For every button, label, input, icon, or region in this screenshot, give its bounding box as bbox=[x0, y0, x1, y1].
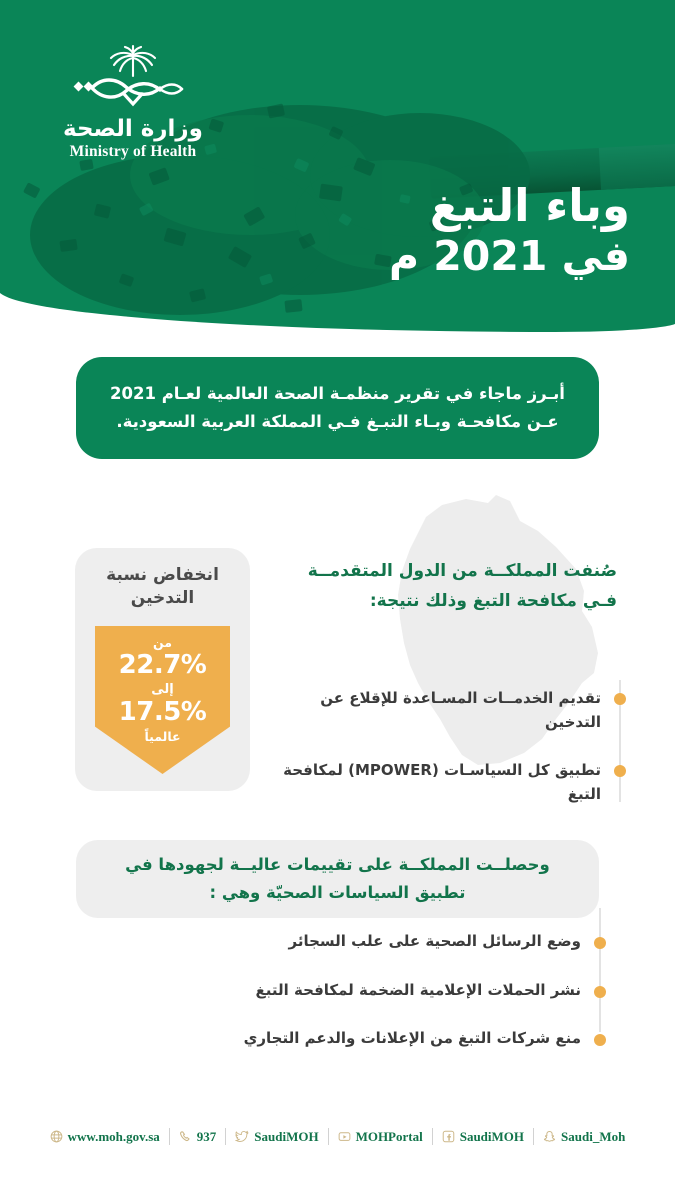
intro-banner: أبـرز ماجاء في تقرير منظمـة الصحة العالم… bbox=[76, 357, 599, 459]
ratings-banner: وحصلــت المملكــة على تقييمات عاليــة لج… bbox=[76, 840, 599, 918]
footer-label: MOHPortal bbox=[356, 1129, 423, 1145]
moh-logo: وزارة الصحة Ministry of Health bbox=[48, 42, 218, 167]
list-item: نشر الحملات الإعلامية الضخمة لمكافحة الت… bbox=[95, 979, 615, 1002]
moh-emblem-icon bbox=[58, 42, 208, 114]
kingdom-ranking-heading: صُنفت المملكــة من الدول المتقدمــة فـي … bbox=[277, 556, 617, 617]
phone-icon bbox=[179, 1130, 192, 1143]
list-item: وضع الرسائل الصحية على علب السجائر bbox=[95, 930, 615, 953]
stat-pennant-badge: من 22.7% إلى 17.5% عالمياً bbox=[95, 626, 230, 774]
bullet-dot-icon bbox=[614, 765, 626, 777]
footer-label: Saudi_Moh bbox=[561, 1129, 625, 1145]
footer-item-twitter[interactable]: SaudiMOH bbox=[226, 1129, 327, 1145]
footer-label: SaudiMOH bbox=[254, 1129, 318, 1145]
badge-to-value: 17.5% bbox=[119, 698, 207, 728]
logo-english-text: Ministry of Health bbox=[48, 143, 218, 161]
badge-from-label: من bbox=[153, 635, 172, 651]
youtube-icon bbox=[338, 1130, 351, 1143]
list-item-label: نشر الحملات الإعلامية الضخمة لمكافحة الت… bbox=[95, 979, 581, 1002]
footer-item-snapchat[interactable]: Saudi_Moh bbox=[534, 1129, 634, 1145]
reasons-list: تقديم الخدمــات المسـاعدة للإقلاع عن الت… bbox=[275, 686, 635, 806]
footer-label: 937 bbox=[197, 1129, 217, 1145]
footer-label: www.moh.gov.sa bbox=[68, 1129, 160, 1145]
footer-item-facebook[interactable]: SaudiMOH bbox=[433, 1129, 533, 1145]
page-header: وزارة الصحة Ministry of Health وباء التب… bbox=[0, 0, 675, 340]
logo-arabic-text: وزارة الصحة bbox=[48, 116, 218, 142]
footer-item-phone[interactable]: 937 bbox=[170, 1129, 226, 1145]
list-item-label: منع شركات التبغ من الإعلانات والدعم التج… bbox=[95, 1027, 581, 1050]
facebook-icon bbox=[442, 1130, 455, 1143]
list-item-label: تقديم الخدمــات المسـاعدة للإقلاع عن الت… bbox=[275, 686, 601, 735]
stat-card-title: انخفاض نسبة التدخين bbox=[75, 548, 250, 610]
title-line-2: في 2021 م bbox=[210, 233, 630, 280]
twitter-icon bbox=[235, 1130, 249, 1143]
footer-contact-bar: www.moh.gov.sa 937 SaudiMOH MOHPortal bbox=[0, 1128, 675, 1145]
bullet-dot-icon bbox=[594, 986, 606, 998]
policies-rail bbox=[599, 908, 601, 1032]
intro-banner-text: أبـرز ماجاء في تقرير منظمـة الصحة العالم… bbox=[76, 380, 599, 437]
badge-from-value: 22.7% bbox=[119, 651, 207, 681]
bullet-dot-icon bbox=[594, 1034, 606, 1046]
title-line-1: وباء التبغ bbox=[210, 182, 630, 229]
footer-item-youtube[interactable]: MOHPortal bbox=[329, 1129, 432, 1145]
badge-scope: عالمياً bbox=[144, 729, 180, 745]
list-item: تطبيق كل السياسـات (MPOWER) لمكافحة التب… bbox=[275, 758, 635, 807]
ratings-banner-text: وحصلــت المملكــة على تقييمات عاليــة لج… bbox=[76, 851, 599, 907]
list-item-label: تطبيق كل السياسـات (MPOWER) لمكافحة التب… bbox=[275, 758, 601, 807]
policies-list: وضع الرسائل الصحية على علب السجائر نشر ا… bbox=[95, 930, 615, 1050]
kingdom-ranking-text: صُنفت المملكــة من الدول المتقدمــة فـي … bbox=[277, 556, 617, 617]
list-item-label: وضع الرسائل الصحية على علب السجائر bbox=[95, 930, 581, 953]
snapchat-icon bbox=[543, 1130, 556, 1143]
footer-label: SaudiMOH bbox=[460, 1129, 524, 1145]
page-title: وباء التبغ في 2021 م bbox=[210, 182, 630, 280]
list-item: تقديم الخدمــات المسـاعدة للإقلاع عن الت… bbox=[275, 686, 635, 735]
bullet-dot-icon bbox=[594, 937, 606, 949]
smoking-rate-card: انخفاض نسبة التدخين من 22.7% إلى 17.5% ع… bbox=[75, 548, 250, 791]
globe-icon bbox=[50, 1130, 63, 1143]
footer-item-website[interactable]: www.moh.gov.sa bbox=[41, 1129, 169, 1145]
bullet-dot-icon bbox=[614, 693, 626, 705]
list-item: منع شركات التبغ من الإعلانات والدعم التج… bbox=[95, 1027, 615, 1050]
badge-to-label: إلى bbox=[151, 682, 174, 699]
